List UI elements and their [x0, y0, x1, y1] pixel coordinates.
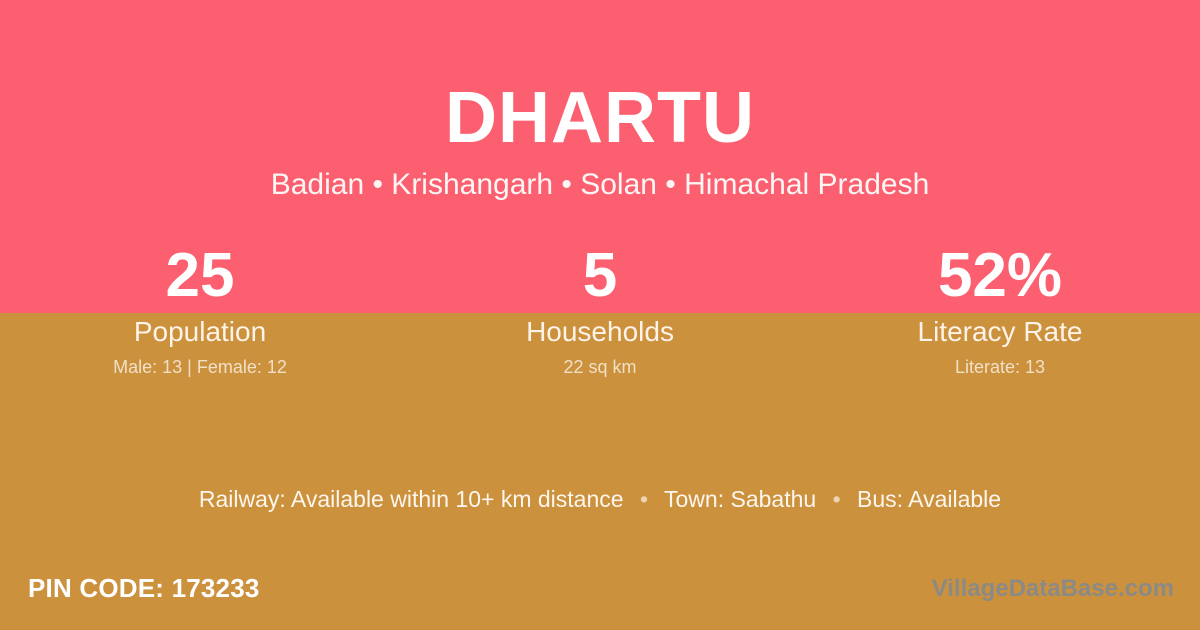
- breadcrumb: Badian • Krishangarh • Solan • Himachal …: [0, 154, 1200, 200]
- stat-value: 25: [0, 245, 400, 307]
- stat-label: Literacy Rate: [800, 317, 1200, 347]
- stat-value: 5: [400, 245, 800, 307]
- page-title: DHARTU: [0, 0, 1200, 154]
- separator-bullet: •: [823, 486, 851, 512]
- stat-sublabel: Literate: 13: [800, 357, 1200, 377]
- card-footer: PIN CODE: 173233 VillageDataBase.com: [0, 572, 1200, 616]
- stat-sublabel: Male: 13 | Female: 12: [0, 357, 400, 377]
- village-info-card: DHARTU Badian • Krishangarh • Solan • Hi…: [0, 0, 1200, 630]
- stat-literacy-rate: 52% Literacy Rate Literate: 13: [800, 245, 1200, 377]
- brand-watermark: VillageDataBase.com: [932, 574, 1174, 604]
- railway-info: Railway: Available within 10+ km distanc…: [199, 486, 624, 512]
- pin-code: PIN CODE: 173233: [28, 572, 260, 604]
- transport-info: Railway: Available within 10+ km distanc…: [0, 485, 1200, 513]
- stat-value: 52%: [800, 245, 1200, 307]
- card-header: DHARTU Badian • Krishangarh • Solan • Hi…: [0, 0, 1200, 200]
- stats-row: 25 Population Male: 13 | Female: 12 5 Ho…: [0, 245, 1200, 377]
- bus-info: Bus: Available: [857, 486, 1001, 512]
- stat-population: 25 Population Male: 13 | Female: 12: [0, 245, 400, 377]
- stat-households: 5 Households 22 sq km: [400, 245, 800, 377]
- stat-label: Households: [400, 317, 800, 347]
- separator-bullet: •: [630, 486, 658, 512]
- town-info: Town: Sabathu: [664, 486, 816, 512]
- stat-sublabel: 22 sq km: [400, 357, 800, 377]
- stat-label: Population: [0, 317, 400, 347]
